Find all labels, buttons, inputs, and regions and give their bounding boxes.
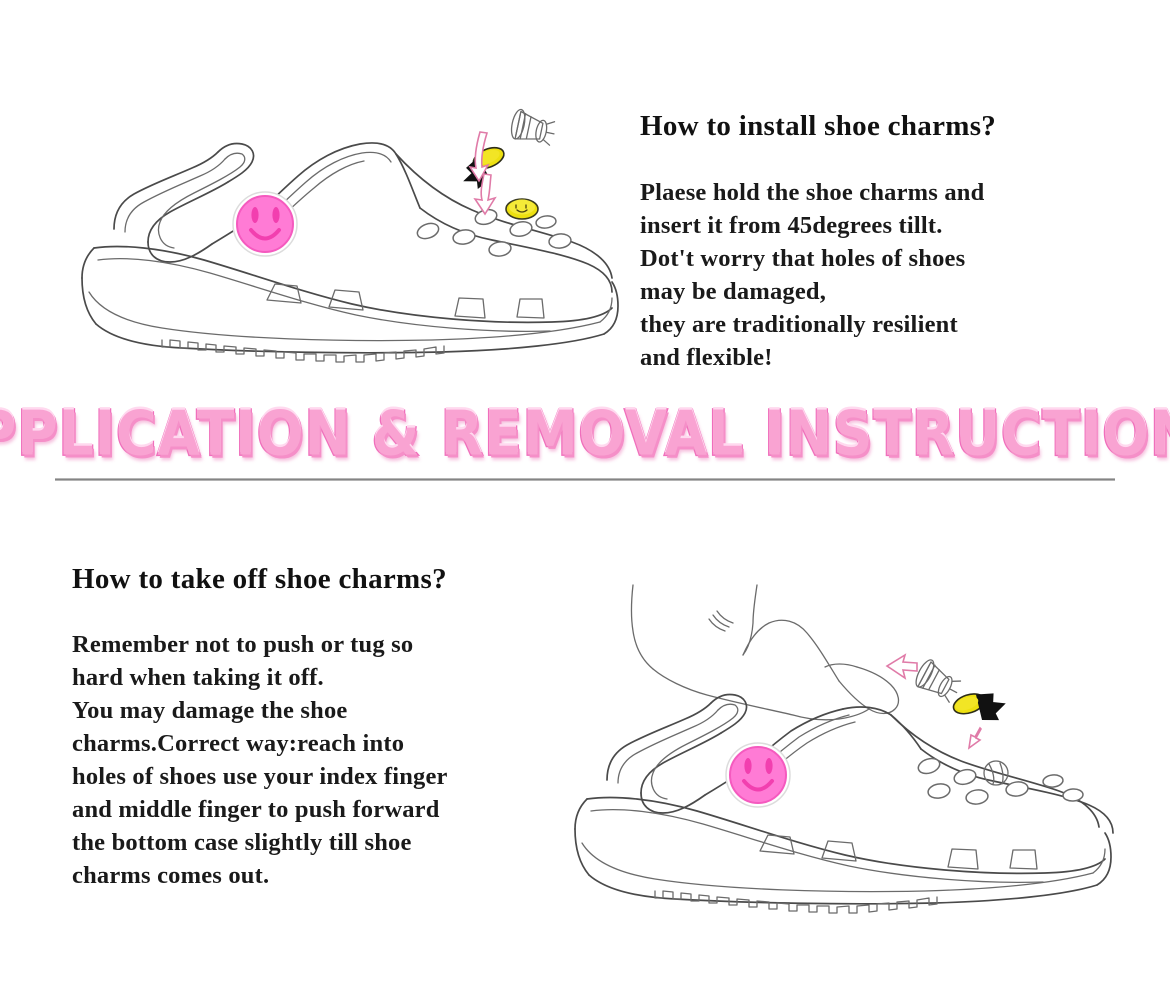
install-line-6: and flexible!	[640, 341, 984, 374]
removal-line-3: You may damage the shoe	[72, 694, 448, 727]
removal-illustration	[545, 585, 1145, 915]
section-divider	[55, 478, 1115, 481]
install-line-4: may be damaged,	[640, 275, 984, 308]
install-heading: How to install shoe charms?	[640, 110, 996, 143]
charm-backing-plug-icon	[913, 657, 965, 704]
removal-line-2: hard when taking it off.	[72, 661, 448, 694]
charm-removed-icon	[951, 685, 1009, 732]
removal-line-6: and middle finger to push forward	[72, 793, 448, 826]
pink-smiley-charm-icon	[233, 192, 297, 256]
install-line-3: Dot't worry that holes of shoes	[640, 242, 984, 275]
remove-arrow-small-icon	[969, 728, 981, 748]
removal-heading: How to take off shoe charms?	[72, 563, 447, 596]
yellow-charm-seated-icon	[506, 199, 538, 219]
charm-backing-plug-icon	[509, 108, 557, 146]
removal-line-5: holes of shoes use your index finger	[72, 760, 448, 793]
banner: APPLICATION & REMOVAL INSTRUCTIONS	[0, 398, 1170, 468]
removal-line-7: the bottom case slightly till shoe	[72, 826, 448, 859]
install-illustration	[52, 96, 632, 356]
removal-line-8: charms comes out.	[72, 859, 448, 892]
install-body: Plaese hold the shoe charms and insert i…	[640, 176, 984, 374]
clog-shoe-install-svg	[52, 96, 632, 356]
remove-arrow-icon	[887, 655, 917, 678]
removal-body: Remember not to push or tug so hard when…	[72, 628, 448, 892]
removal-line-1: Remember not to push or tug so	[72, 628, 448, 661]
install-line-5: they are traditionally resilient	[640, 308, 984, 341]
removal-line-4: charms.Correct way:reach into	[72, 727, 448, 760]
install-line-2: insert it from 45degrees tillt.	[640, 209, 984, 242]
pink-smiley-charm-icon	[726, 743, 790, 807]
clog-shoe-removal-svg	[545, 585, 1145, 915]
install-line-1: Plaese hold the shoe charms and	[640, 176, 984, 209]
banner-title: APPLICATION & REMOVAL INSTRUCTIONS	[0, 397, 1170, 469]
